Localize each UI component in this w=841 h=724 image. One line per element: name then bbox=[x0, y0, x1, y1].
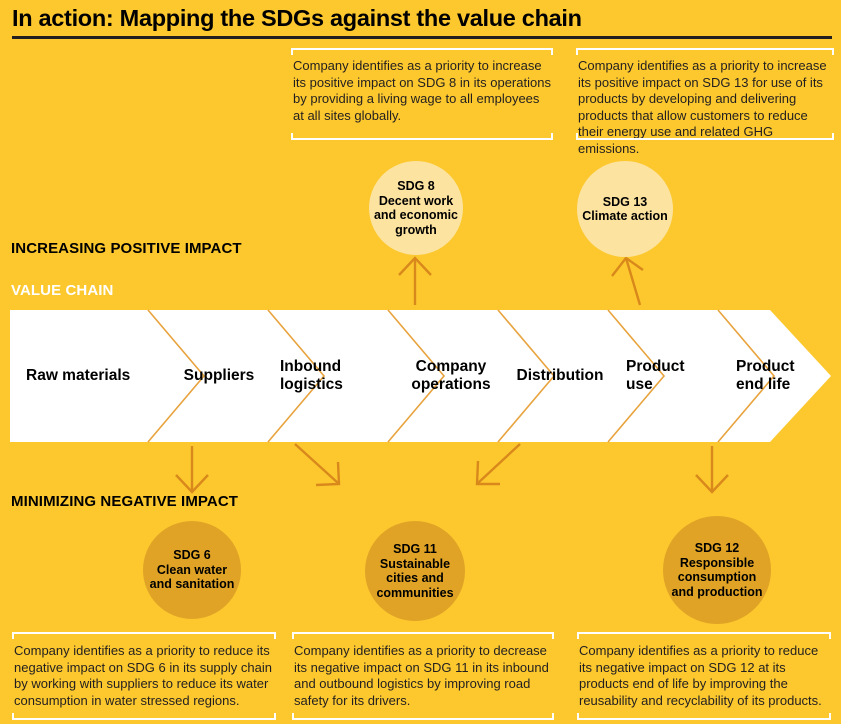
step-line1: Raw materials bbox=[26, 367, 130, 385]
note-sdg12: Company identifies as a priority to redu… bbox=[577, 632, 831, 720]
step-line1: Product bbox=[736, 358, 795, 376]
note-rule-bottom bbox=[292, 718, 554, 720]
note-rule-bottom bbox=[291, 138, 553, 140]
sdg-circle-12[interactable]: SDG 12 Responsible consumption and produ… bbox=[663, 516, 771, 624]
note-sdg6: Company identifies as a priority to redu… bbox=[12, 632, 276, 720]
note-tick-top-right bbox=[829, 632, 831, 639]
sdg-label: Responsible consumption and production bbox=[672, 556, 763, 599]
note-tick-top-right bbox=[552, 632, 554, 639]
sdg-label: Clean water and sanitation bbox=[150, 563, 235, 592]
label-increasing-positive-impact: INCREASING POSITIVE IMPACT bbox=[11, 240, 242, 257]
note-rule-bottom bbox=[576, 138, 834, 140]
step-suppliers[interactable]: Suppliers bbox=[160, 310, 278, 442]
note-text: Company identifies as a priority to incr… bbox=[578, 58, 832, 157]
step-line1: Company bbox=[411, 358, 490, 376]
label-value-chain: VALUE CHAIN bbox=[11, 282, 114, 299]
arrow-down-group bbox=[176, 444, 728, 492]
step-line1: Suppliers bbox=[184, 367, 255, 385]
note-rule-bottom bbox=[12, 718, 276, 720]
note-rule-bottom bbox=[577, 718, 831, 720]
sdg-number: SDG 11 bbox=[393, 542, 437, 556]
note-tick-top-left bbox=[577, 632, 579, 639]
note-sdg11: Company identifies as a priority to decr… bbox=[292, 632, 554, 720]
step-line1: Product bbox=[626, 358, 685, 376]
note-rule-top bbox=[577, 632, 831, 634]
note-rule-top bbox=[291, 48, 553, 50]
step-line2: end life bbox=[736, 376, 795, 394]
label-minimizing-negative-impact: MINIMIZING NEGATIVE IMPACT bbox=[11, 493, 238, 510]
sdg-label: Sustainable cities and communities bbox=[376, 557, 453, 600]
step-line1: Distribution bbox=[517, 367, 604, 385]
step-line2: operations bbox=[411, 376, 490, 394]
note-text: Company identifies as a priority to incr… bbox=[293, 58, 551, 124]
note-rule-top bbox=[292, 632, 554, 634]
sdg-circle-6[interactable]: SDG 6 Clean water and sanitation bbox=[143, 521, 241, 619]
step-line2: use bbox=[626, 376, 685, 394]
step-product-use[interactable]: Product use bbox=[614, 310, 736, 442]
page-title: In action: Mapping the SDGs against the … bbox=[12, 3, 832, 33]
note-sdg8: Company identifies as a priority to incr… bbox=[291, 48, 553, 140]
note-sdg13: Company identifies as a priority to incr… bbox=[576, 48, 834, 140]
note-text: Company identifies as a priority to redu… bbox=[14, 643, 274, 709]
sdg-label: Decent work and economic growth bbox=[374, 194, 458, 237]
sdg-label: Climate action bbox=[582, 209, 667, 223]
title-underline bbox=[12, 36, 832, 39]
value-chain: Raw materials Suppliers Inbound logistic… bbox=[10, 310, 831, 442]
sdg-circle-11[interactable]: SDG 11 Sustainable cities and communitie… bbox=[365, 521, 465, 621]
step-company-operations[interactable]: Company operations bbox=[388, 310, 514, 442]
note-tick-top-left bbox=[576, 48, 578, 55]
step-raw-materials[interactable]: Raw materials bbox=[18, 310, 166, 442]
note-rule-top bbox=[576, 48, 834, 50]
note-text: Company identifies as a priority to redu… bbox=[579, 643, 829, 709]
step-inbound-logistics[interactable]: Inbound logistics bbox=[272, 310, 406, 442]
sdg-number: SDG 6 bbox=[173, 548, 211, 562]
sdg-circle-8[interactable]: SDG 8 Decent work and economic growth bbox=[369, 161, 463, 255]
note-tick-top-left bbox=[292, 632, 294, 639]
sdg-number: SDG 13 bbox=[603, 195, 647, 209]
diagram-canvas: In action: Mapping the SDGs against the … bbox=[0, 0, 841, 724]
note-tick-top-right bbox=[274, 632, 276, 639]
note-text: Company identifies as a priority to decr… bbox=[294, 643, 552, 709]
note-rule-top bbox=[12, 632, 276, 634]
sdg-circle-13[interactable]: SDG 13 Climate action bbox=[577, 161, 673, 257]
note-tick-top-right bbox=[551, 48, 553, 55]
step-line2: logistics bbox=[280, 376, 343, 394]
note-tick-top-right bbox=[832, 48, 834, 55]
step-product-end-life[interactable]: Product end life bbox=[726, 310, 841, 442]
step-line1: Inbound bbox=[280, 358, 343, 376]
note-tick-top-left bbox=[12, 632, 14, 639]
note-tick-top-left bbox=[291, 48, 293, 55]
sdg-number: SDG 12 bbox=[695, 541, 739, 555]
sdg-number: SDG 8 bbox=[397, 179, 435, 193]
arrow-up-group bbox=[399, 258, 643, 305]
step-distribution[interactable]: Distribution bbox=[502, 310, 618, 442]
